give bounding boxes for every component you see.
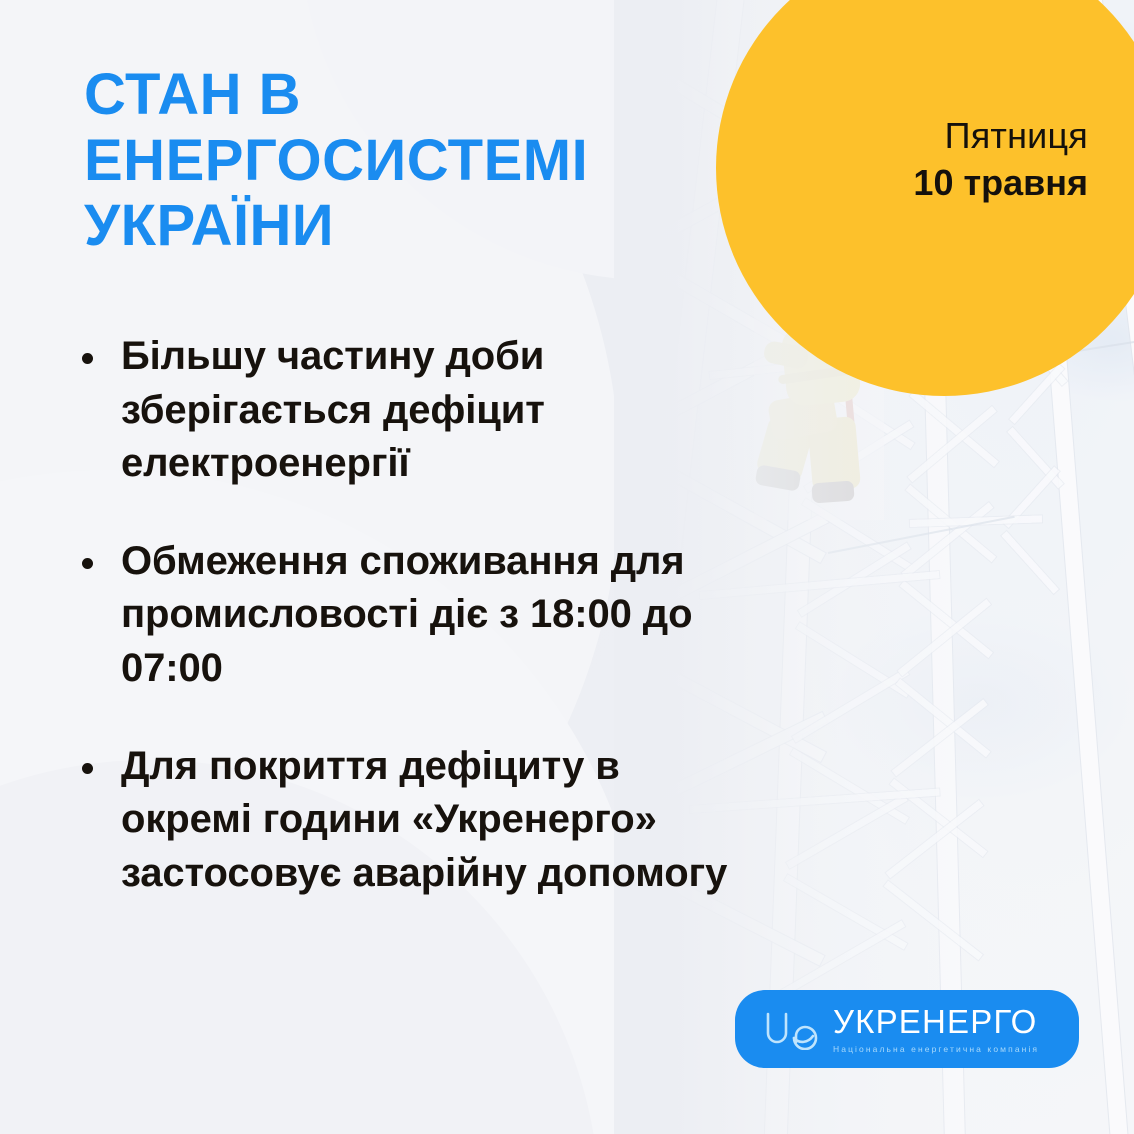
ukrenergo-u-e-monogram-icon [763, 1008, 819, 1050]
infographic-poster: СТАН В ЕНЕРГОСИСТЕМІ УКРАЇНИ Пятниця 10 … [0, 0, 1134, 1134]
bullet-text: Обмеження споживання для промисловості д… [121, 535, 754, 696]
page-title-line-3: УКРАЇНИ [84, 193, 684, 259]
page-title: СТАН В ЕНЕРГОСИСТЕМІ УКРАЇНИ [84, 62, 684, 259]
list-item: Обмеження споживання для промисловості д… [74, 535, 754, 696]
page-title-line-1: СТАН В [84, 62, 684, 128]
date-weekday: Пятниця [913, 114, 1088, 157]
bullet-dot-icon [82, 763, 93, 774]
date-block: Пятниця 10 травня [913, 114, 1088, 204]
list-item: Для покриття дефіциту в окремі години «У… [74, 740, 754, 901]
ukrenergo-logo-badge: УКРЕНЕРГО Національна енергетична компан… [735, 990, 1079, 1068]
bullet-text: Більшу частину доби зберігається дефіцит… [121, 330, 754, 491]
logo-tagline: Національна енергетична компанія [833, 1044, 1039, 1054]
bullet-dot-icon [82, 558, 93, 569]
bullet-list: Більшу частину доби зберігається дефіцит… [74, 330, 754, 900]
date-day-month: 10 травня [913, 161, 1088, 204]
logo-text-group: УКРЕНЕРГО Національна енергетична компан… [833, 1005, 1039, 1054]
logo-name: УКРЕНЕРГО [833, 1005, 1039, 1038]
page-title-line-2: ЕНЕРГОСИСТЕМІ [84, 128, 684, 194]
bullet-dot-icon [82, 353, 93, 364]
bullet-text: Для покриття дефіциту в окремі години «У… [121, 740, 754, 901]
list-item: Більшу частину доби зберігається дефіцит… [74, 330, 754, 491]
